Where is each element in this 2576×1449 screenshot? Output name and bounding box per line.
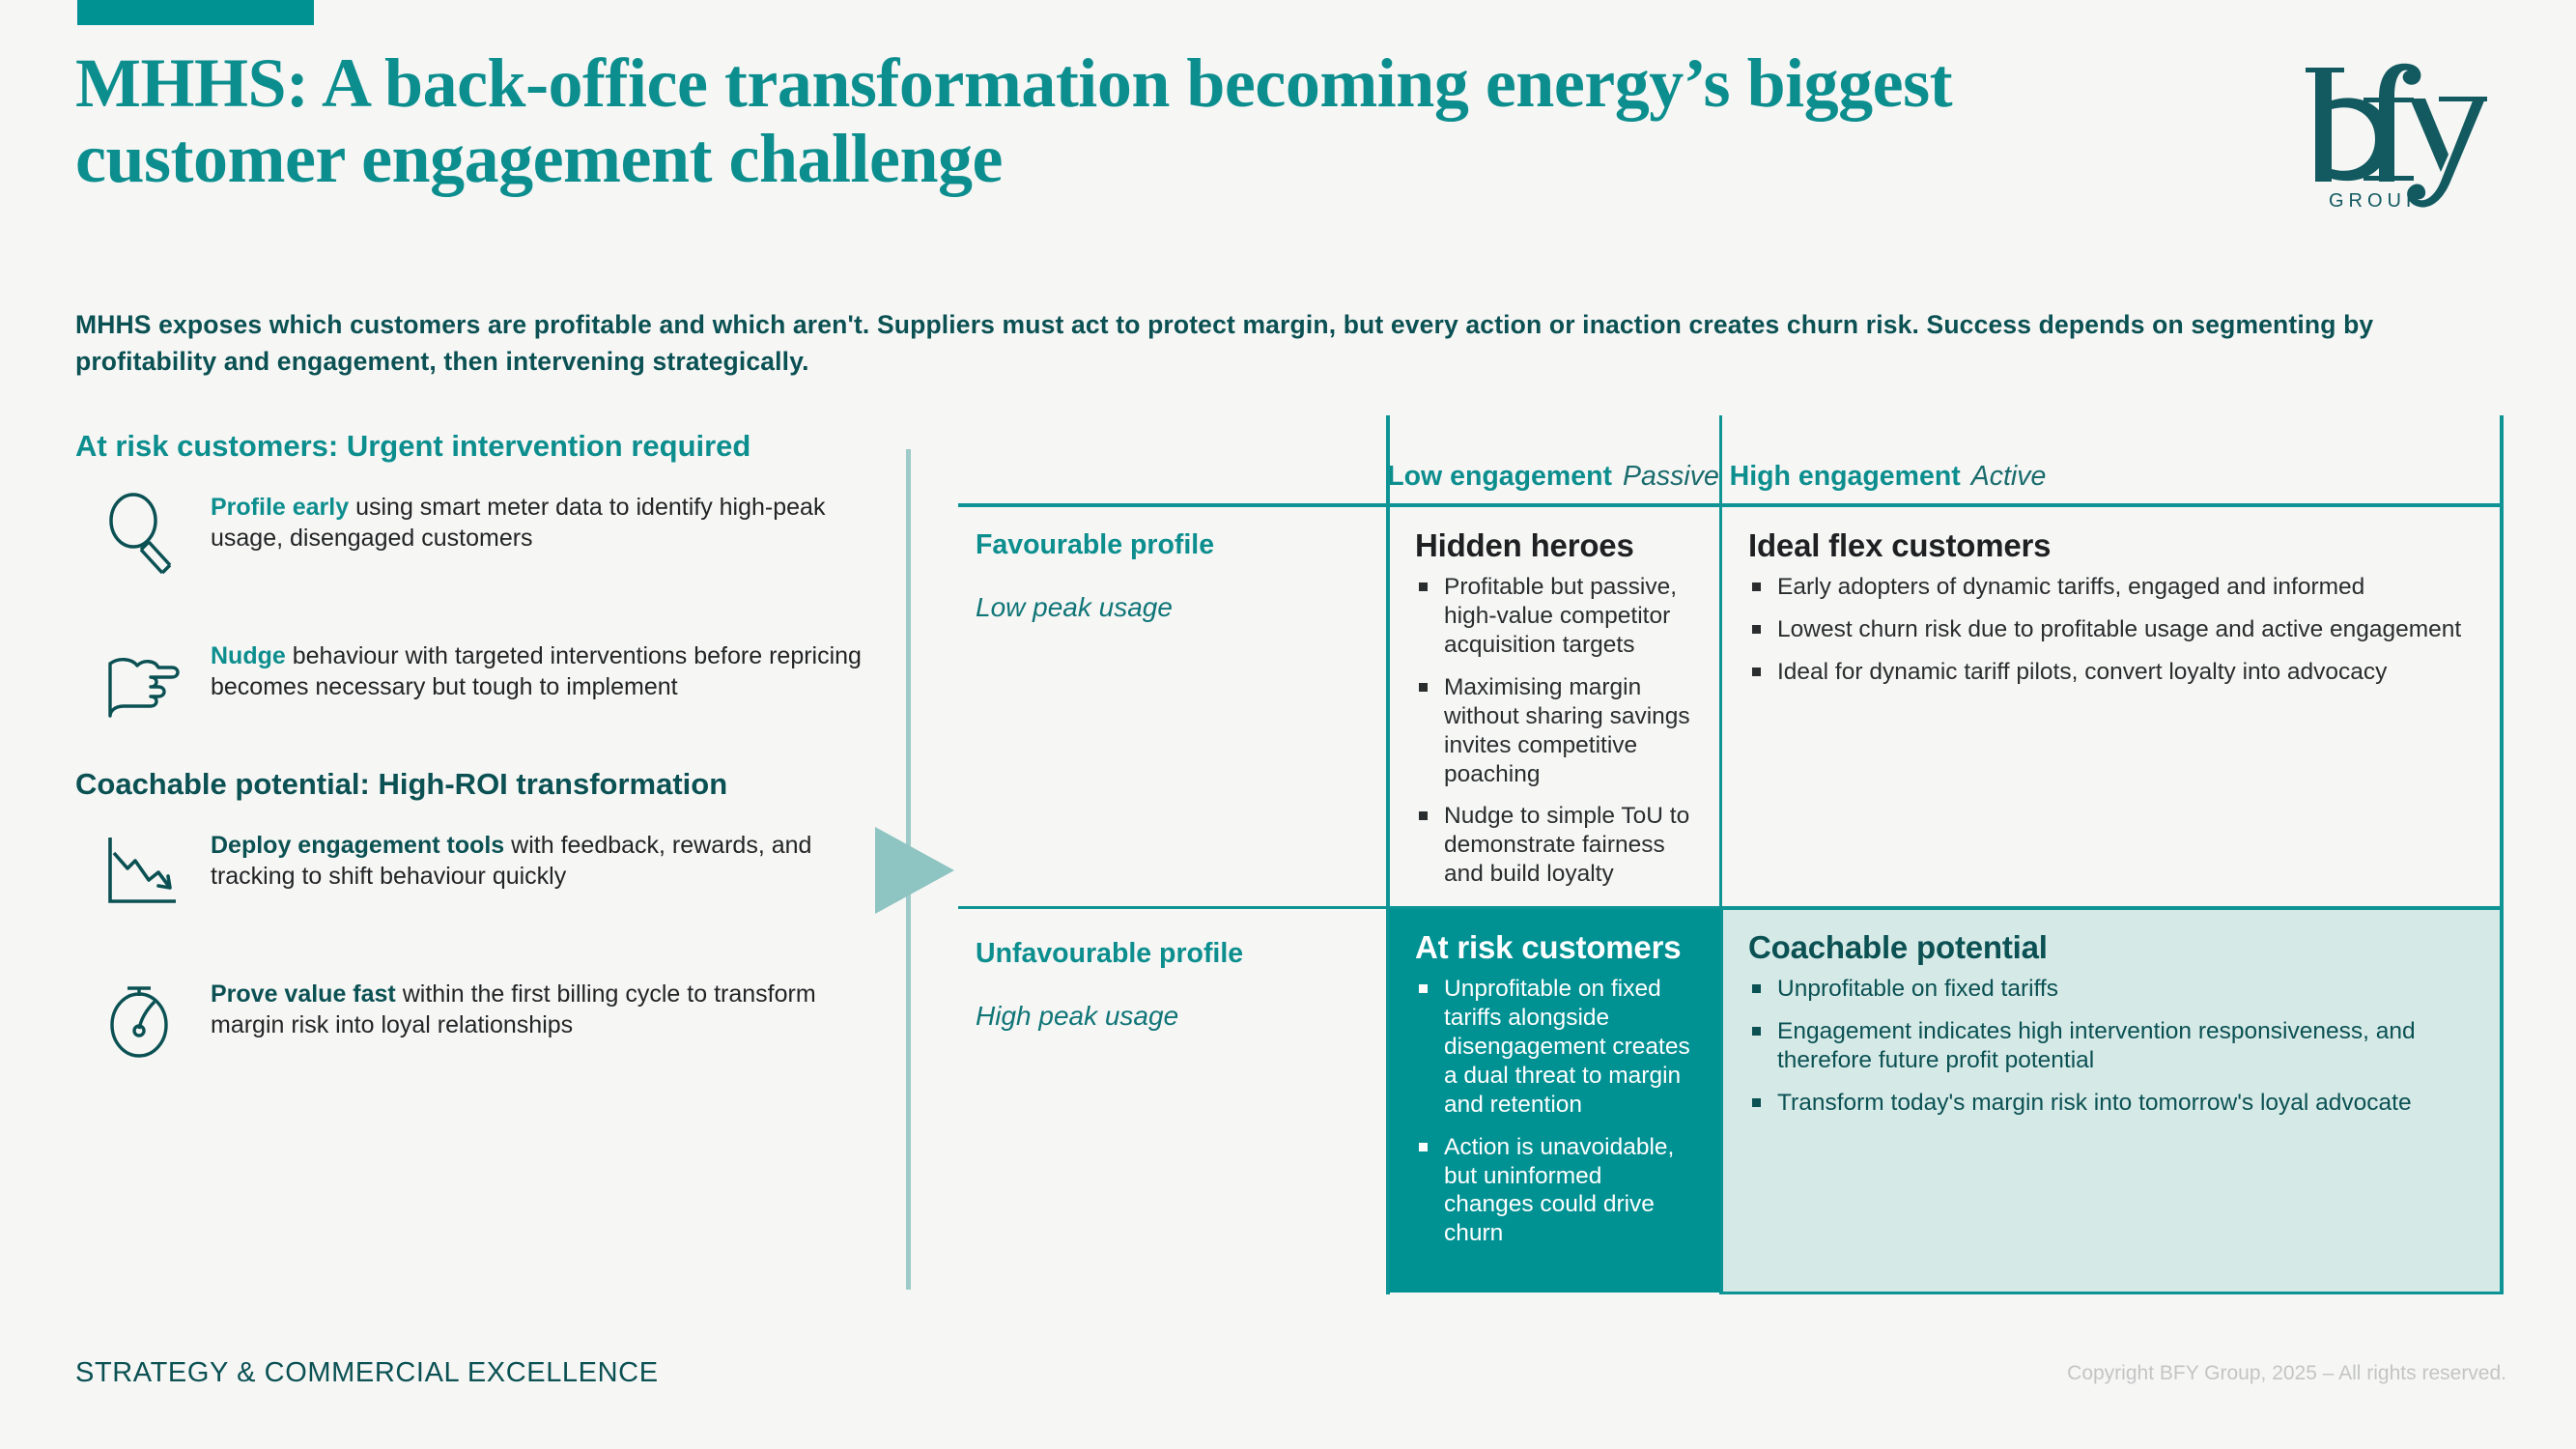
matrix-cell-coachable-potential: Coachable potential Unprofitable on fixe… <box>1723 909 2502 1131</box>
column-label: Low engagement <box>1387 461 1612 493</box>
cell-title: Hidden heroes <box>1415 528 1694 563</box>
slide-canvas: MHHS: A back-office transformation becom… <box>0 0 2576 1449</box>
magnifier-icon <box>75 486 211 579</box>
insight-lead: Profile early <box>211 494 349 521</box>
page-subtitle: MHHS exposes which customers are profita… <box>75 307 2480 380</box>
insight-lead: Prove value fast <box>211 980 396 1008</box>
matrix-cell-hidden-heroes: Hidden heroes Profitable but passive, hi… <box>1390 507 1719 902</box>
insight-item-text: Prove value fast within the first billin… <box>211 973 877 1041</box>
insight-item-text: Deploy engagement tools with feedback, r… <box>211 824 877 893</box>
bfy-logo-mark: GROUP <box>2294 41 2506 219</box>
matrix-cell-at-risk-customers: At risk customers Unprofitable on fixed … <box>1390 909 1719 1262</box>
logo-sub-text: GROUP <box>2329 190 2423 212</box>
matrix-row-header-unfavourable: Unfavourable profile High peak usage <box>976 937 1372 1032</box>
row-label-sub: High peak usage <box>976 1000 1372 1033</box>
matrix-row-header-favourable: Favourable profile Low peak usage <box>976 528 1372 623</box>
column-emphasis: Active <box>1971 461 2047 493</box>
segmentation-matrix: Low engagementPassive High engagementAct… <box>958 411 2504 1294</box>
cell-bullet-list: Profitable but passive, high-value compe… <box>1415 573 1694 889</box>
list-item: Nudge to simple ToU to demonstrate fairn… <box>1415 802 1694 889</box>
cell-title: Coachable potential <box>1748 930 2477 965</box>
list-item: Ideal for dynamic tariff pilots, convert… <box>1748 658 2477 687</box>
matrix-column-header-high-engagement: High engagementActive <box>1721 411 2054 504</box>
left-section-2-heading: Coachable potential: High-ROI transforma… <box>75 766 877 803</box>
insight-item-profile-early: Profile early using smart meter data to … <box>75 486 877 579</box>
list-item: Engagement indicates high intervention r… <box>1748 1017 2477 1075</box>
column-label: High engagement <box>1730 461 1961 493</box>
insight-rest: behaviour with targeted interventions be… <box>211 642 862 701</box>
insight-lead: Nudge <box>211 642 286 669</box>
footer-copyright: Copyright BFY Group, 2025 – All rights r… <box>2067 1362 2506 1385</box>
insight-item-text: Profile early using smart meter data to … <box>211 486 877 554</box>
list-item: Early adopters of dynamic tariffs, engag… <box>1748 573 2477 602</box>
footer-strapline: STRATEGY & COMMERCIAL EXCELLENCE <box>75 1357 659 1389</box>
row-label-sub: Low peak usage <box>976 591 1372 624</box>
insight-item-prove-value: Prove value fast within the first billin… <box>75 973 877 1065</box>
row-label-title: Favourable profile <box>976 528 1372 562</box>
matrix-cell-ideal-flex-customers: Ideal flex customers Early adopters of d… <box>1723 507 2502 700</box>
column-emphasis: Passive <box>1623 461 1719 493</box>
top-accent-bar <box>77 0 314 25</box>
list-item: Unprofitable on fixed tariffs <box>1748 975 2477 1004</box>
list-item: Unprofitable on fixed tariffs alongside … <box>1415 975 1694 1119</box>
declining-chart-icon <box>75 824 211 917</box>
list-item: Profitable but passive, high-value compe… <box>1415 573 1694 660</box>
bfy-group-logo: GROUP <box>2294 41 2506 219</box>
list-item: Lowest churn risk due to profitable usag… <box>1748 615 2477 644</box>
cell-bullet-list: Unprofitable on fixed tariffs alongside … <box>1415 975 1694 1248</box>
cell-bullet-list: Early adopters of dynamic tariffs, engag… <box>1748 573 2477 687</box>
insight-item-nudge: Nudge behaviour with targeted interventi… <box>75 635 877 727</box>
flow-arrow-triangle <box>875 827 954 914</box>
page-title: MHHS: A back-office transformation becom… <box>75 46 2133 197</box>
list-item: Maximising margin without sharing saving… <box>1415 673 1694 789</box>
insight-item-text: Nudge behaviour with targeted interventi… <box>211 635 877 703</box>
cell-title: Ideal flex customers <box>1748 528 2477 563</box>
insight-item-deploy-tools: Deploy engagement tools with feedback, r… <box>75 824 877 917</box>
row-label-title: Unfavourable profile <box>976 937 1372 971</box>
list-item: Transform today's margin risk into tomor… <box>1748 1089 2477 1118</box>
left-insights-column: At risk customers: Urgent intervention r… <box>75 428 877 1065</box>
left-section-1-heading: At risk customers: Urgent intervention r… <box>75 428 877 465</box>
cell-bullet-list: Unprofitable on fixed tariffs Engagement… <box>1748 975 2477 1118</box>
stopwatch-icon <box>75 973 211 1065</box>
pointing-hand-icon <box>75 635 211 727</box>
cell-title: At risk customers <box>1415 930 1694 965</box>
list-item: Action is unavoidable, but uninformed ch… <box>1415 1133 1694 1249</box>
matrix-column-header-low-engagement: Low engagementPassive <box>1388 411 1718 504</box>
insight-lead: Deploy engagement tools <box>211 832 504 859</box>
